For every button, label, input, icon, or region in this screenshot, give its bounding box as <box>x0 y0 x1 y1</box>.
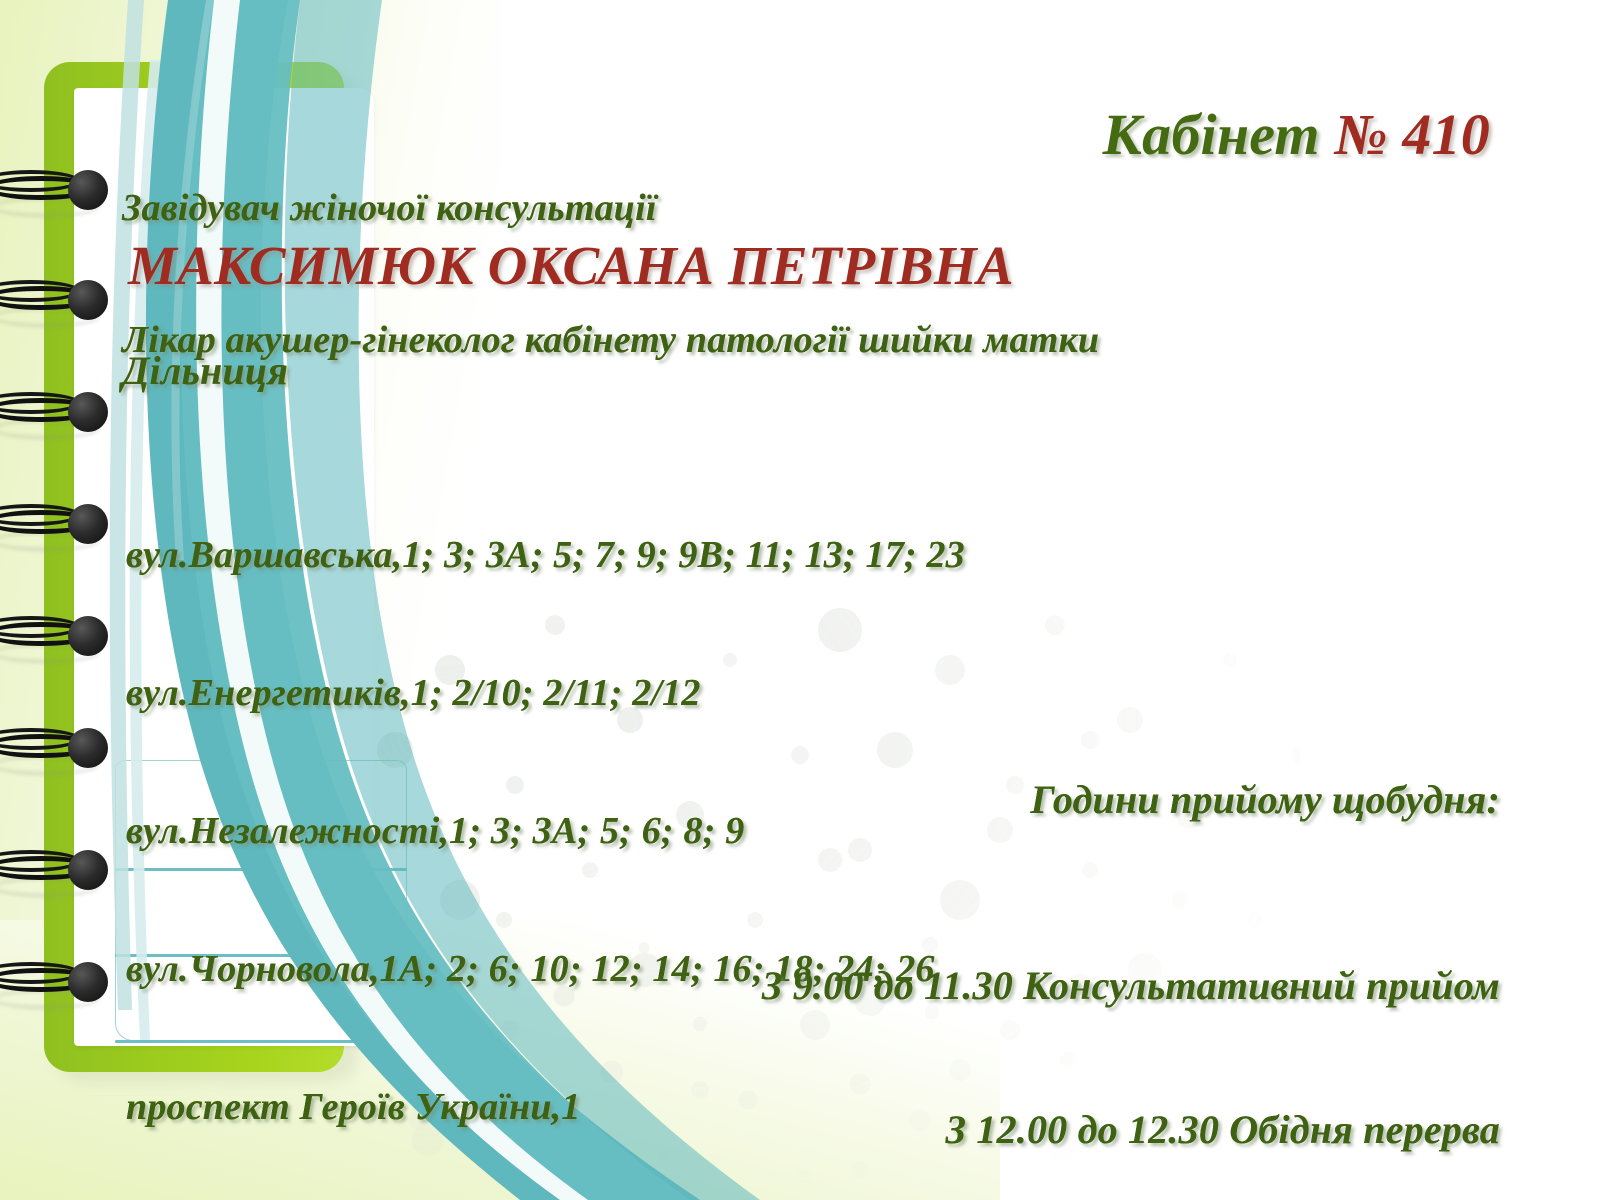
role-line-2: Лікар акушер-гінеколог кабінету патологі… <box>122 318 1422 362</box>
role-line-1: Завідувач жіночої консультації <box>122 186 1422 230</box>
slide-canvas: Кабінет № 410 Завідувач жіночої консульт… <box>0 0 1600 1200</box>
reception-hours-list: З 9.00 до 11.30 Консультативний прийом З… <box>200 866 1500 1200</box>
reception-hours-title: Години прийому щобудня: <box>200 776 1500 823</box>
address-line: вул.Енергетиків,1; 2/10; 2/11; 2/12 <box>126 670 1466 716</box>
doctor-name: МАКСИМЮК ОКСАНА ПЕТРІВНА <box>128 236 1014 296</box>
hours-line: З 9.00 до 11.30 Консультативний прийом <box>200 962 1500 1010</box>
address-line: вул.Варшавська,1; 3; 3А; 5; 7; 9; 9В; 11… <box>126 532 1466 578</box>
text-content-layer: Кабінет № 410 Завідувач жіночої консульт… <box>0 0 1600 1200</box>
hours-line: З 12.00 до 12.30 Обідня перерва <box>200 1106 1500 1154</box>
district-label: Дільниця <box>122 347 288 394</box>
